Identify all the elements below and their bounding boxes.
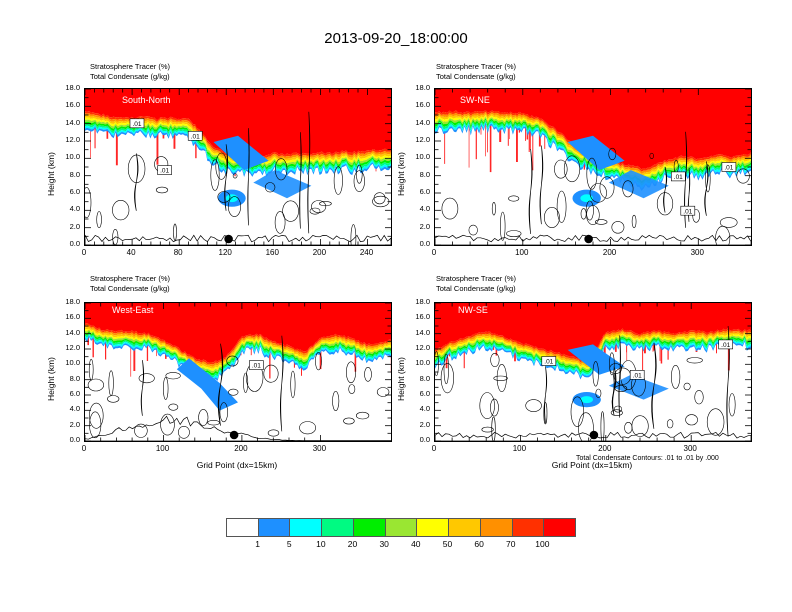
y-tick-3-6: 6.0 [402,389,430,398]
y-tick-0-7: 4.0 [52,204,80,213]
x-tick-1-3: 300 [677,248,717,257]
x-tick-2-1: 100 [143,444,183,453]
colorbar-cell-7 [449,519,481,536]
colorbar-cell-2 [290,519,322,536]
y-tick-2-6: 6.0 [52,389,80,398]
svg-text:.01: .01 [683,208,692,215]
x-tick-0-0: 0 [64,248,104,257]
y-tick-1-8: 2.0 [402,222,430,231]
y-tick-0-6: 6.0 [52,187,80,196]
svg-text:.01: .01 [132,121,141,128]
x-tick-3-0: 0 [414,444,454,453]
x-tick-2-2: 200 [221,444,261,453]
y-tick-2-2: 14.0 [52,328,80,337]
y-tick-0-5: 8.0 [52,170,80,179]
x-tick-1-1: 100 [502,248,542,257]
y-tick-1-1: 16.0 [402,100,430,109]
y-tick-1-7: 4.0 [402,204,430,213]
y-tick-1-4: 10.0 [402,152,430,161]
panel-header-2: Stratosphere Tracer (%)Total Condensate … [90,274,170,294]
x-tick-3-2: 200 [585,444,625,453]
y-tick-2-1: 16.0 [52,312,80,321]
colorbar-cell-9 [513,519,545,536]
y-tick-0-8: 2.0 [52,222,80,231]
svg-text:.01: .01 [724,165,733,172]
y-tick-0-4: 10.0 [52,152,80,161]
y-tick-2-3: 12.0 [52,343,80,352]
svg-text:.01: .01 [544,359,553,366]
y-tick-3-9: 0.0 [402,435,430,444]
y-tick-0-9: 0.0 [52,239,80,248]
y-tick-1-6: 6.0 [402,187,430,196]
colorbar-cell-8 [481,519,513,536]
y-tick-1-3: 12.0 [402,135,430,144]
svg-text:.01: .01 [633,372,642,379]
x-tick-3-1: 100 [499,444,539,453]
colorbar-cells [226,518,576,537]
x-tick-1-0: 0 [414,248,454,257]
colorbar-cell-4 [354,519,386,536]
y-tick-1-5: 8.0 [402,170,430,179]
header-line-1: Stratosphere Tracer (%) [436,274,516,284]
y-tick-0-3: 12.0 [52,135,80,144]
header-line-1: Stratosphere Tracer (%) [436,62,516,72]
y-tick-2-5: 8.0 [52,374,80,383]
x-tick-2-3: 300 [299,444,339,453]
x-axis-label-2: Grid Point (dx=15km) [84,460,390,470]
cross-section-plot-sw-ne[interactable]: .01.01.01 [434,88,752,246]
svg-text:.01: .01 [160,168,169,175]
panel-header-1: Stratosphere Tracer (%)Total Condensate … [436,62,516,82]
x-tick-0-6: 240 [347,248,387,257]
panel-header-3: Stratosphere Tracer (%)Total Condensate … [436,274,516,294]
y-tick-1-9: 0.0 [402,239,430,248]
figure-canvas: 2013-09-20_18:00:00 Stratosphere Tracer … [0,0,792,612]
y-tick-3-3: 12.0 [402,343,430,352]
y-tick-0-0: 18.0 [52,83,80,92]
panel-header-0: Stratosphere Tracer (%)Total Condensate … [90,62,170,82]
cross-section-plot-nw-se[interactable]: .01.01.01 [434,302,752,442]
y-tick-1-2: 14.0 [402,118,430,127]
header-line-2: Total Condensate (g/kg) [90,284,170,294]
header-line-2: Total Condensate (g/kg) [436,72,516,82]
x-tick-0-4: 160 [252,248,292,257]
colorbar-cell-3 [322,519,354,536]
colorbar-cell-1 [259,519,291,536]
y-tick-3-7: 4.0 [402,404,430,413]
svg-text:.01: .01 [721,342,730,349]
colorbar-cell-0 [227,519,259,536]
header-line-2: Total Condensate (g/kg) [436,284,516,294]
y-tick-0-1: 16.0 [52,100,80,109]
svg-text:.01: .01 [674,174,683,181]
y-tick-3-1: 16.0 [402,312,430,321]
x-tick-0-1: 40 [111,248,151,257]
x-tick-0-5: 200 [299,248,339,257]
header-line-1: Stratosphere Tracer (%) [90,62,170,72]
y-tick-3-4: 10.0 [402,358,430,367]
cross-section-plot-west-east[interactable]: .01 [84,302,392,442]
y-tick-2-8: 2.0 [52,420,80,429]
y-tick-3-5: 8.0 [402,374,430,383]
y-tick-1-0: 18.0 [402,83,430,92]
header-line-1: Stratosphere Tracer (%) [90,274,170,284]
y-tick-0-2: 14.0 [52,118,80,127]
cross-section-plot-south-north[interactable]: .01.01.01 [84,88,392,246]
header-line-2: Total Condensate (g/kg) [90,72,170,82]
colorbar: 1510203040506070100 [226,518,576,537]
colorbar-label-9: 100 [522,539,562,549]
colorbar-cell-6 [417,519,449,536]
x-tick-0-2: 80 [158,248,198,257]
colorbar-cell-5 [386,519,418,536]
svg-text:.01: .01 [191,133,200,140]
figure-title: 2013-09-20_18:00:00 [0,30,792,47]
svg-text:.01: .01 [252,363,261,370]
y-tick-2-4: 10.0 [52,358,80,367]
y-tick-2-7: 4.0 [52,404,80,413]
x-tick-0-3: 120 [205,248,245,257]
y-tick-2-0: 18.0 [52,297,80,306]
y-tick-2-9: 0.0 [52,435,80,444]
x-tick-1-2: 200 [590,248,630,257]
y-tick-3-0: 18.0 [402,297,430,306]
x-tick-3-3: 300 [670,444,710,453]
contour-note: Total Condensate Contours: .01 to .01 by… [576,455,719,462]
y-tick-3-2: 14.0 [402,328,430,337]
y-tick-3-8: 2.0 [402,420,430,429]
x-tick-2-0: 0 [64,444,104,453]
colorbar-cell-10 [544,519,575,536]
